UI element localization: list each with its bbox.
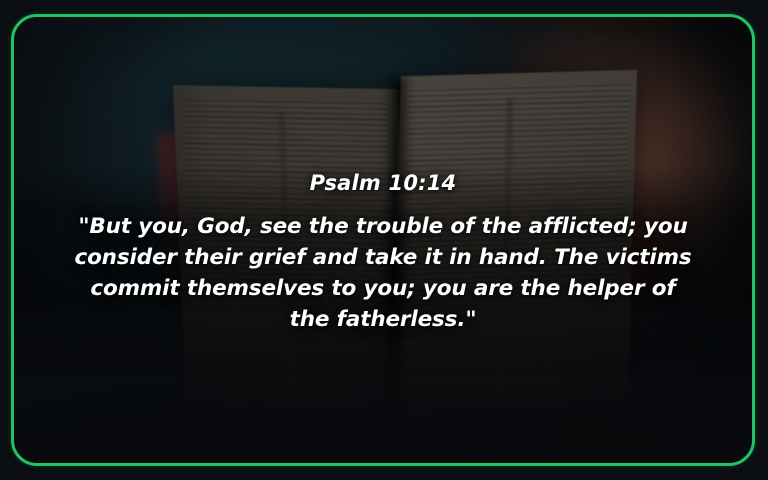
background-photo	[12, 15, 754, 465]
text-scrim	[12, 165, 754, 375]
quote-card: Psalm 10:14 "But you, God, see the troub…	[0, 0, 768, 480]
